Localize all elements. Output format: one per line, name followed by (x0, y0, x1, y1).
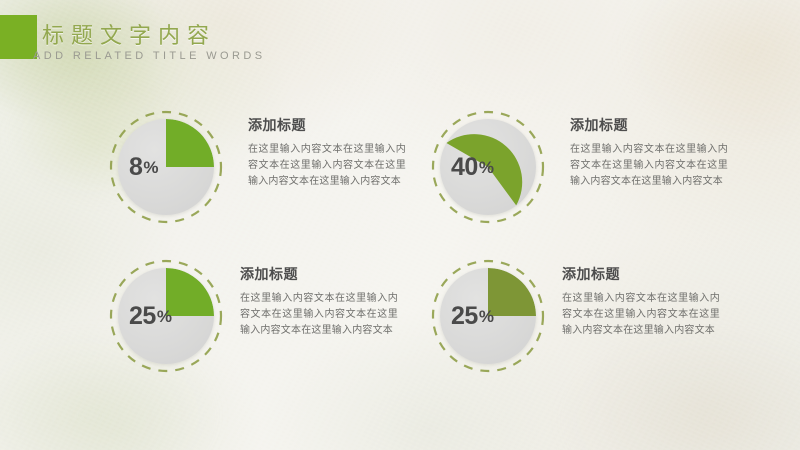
paper-grain-overlay (0, 0, 800, 450)
stat-heading-4: 添加标题 (562, 264, 720, 284)
slide-canvas: 标题文字内容 ADD RELATED TITLE WORDS 8% 添加标题 在… (0, 0, 800, 450)
pie-chart-1[interactable]: 8% (108, 109, 224, 225)
pie-disc-1 (118, 119, 214, 215)
stat-heading-2: 添加标题 (570, 115, 728, 135)
page-title: 标题文字内容 (42, 18, 216, 50)
pie-chart-3[interactable]: 25% (108, 258, 224, 374)
pie-disc-2 (440, 119, 536, 215)
stat-text-1: 添加标题 在这里输入内容文本在这里输入内容文本在这里输入内容文本在这里输入内容文… (248, 115, 406, 191)
stat-text-2: 添加标题 在这里输入内容文本在这里输入内容文本在这里输入内容文本在这里输入内容文… (570, 115, 728, 191)
pie-slice-4 (440, 268, 536, 364)
header-accent-block (0, 15, 37, 59)
pie-slice-3 (118, 268, 214, 364)
stat-body-4: 在这里输入内容文本在这里输入内容文本在这里输入内容文本在这里输入内容文本在这里输… (562, 291, 720, 340)
pie-slice-1 (118, 119, 214, 215)
pie-slice-2 (440, 119, 536, 215)
pie-disc-4 (440, 268, 536, 364)
pie-chart-2[interactable]: 40% (430, 109, 546, 225)
stat-heading-1: 添加标题 (248, 115, 406, 135)
stat-text-3: 添加标题 在这里输入内容文本在这里输入内容文本在这里输入内容文本在这里输入内容文… (240, 264, 398, 340)
pie-disc-3 (118, 268, 214, 364)
stat-body-2: 在这里输入内容文本在这里输入内容文本在这里输入内容文本在这里输入内容文本在这里输… (570, 142, 728, 191)
stat-body-3: 在这里输入内容文本在这里输入内容文本在这里输入内容文本在这里输入内容文本在这里输… (240, 291, 398, 340)
page-subtitle: ADD RELATED TITLE WORDS (33, 50, 265, 62)
pie-chart-4[interactable]: 25% (430, 258, 546, 374)
watercolor-wisp-bottomright (560, 330, 800, 450)
stat-heading-3: 添加标题 (240, 264, 398, 284)
stat-text-4: 添加标题 在这里输入内容文本在这里输入内容文本在这里输入内容文本在这里输入内容文… (562, 264, 720, 340)
stat-body-1: 在这里输入内容文本在这里输入内容文本在这里输入内容文本在这里输入内容文本在这里输… (248, 142, 406, 191)
